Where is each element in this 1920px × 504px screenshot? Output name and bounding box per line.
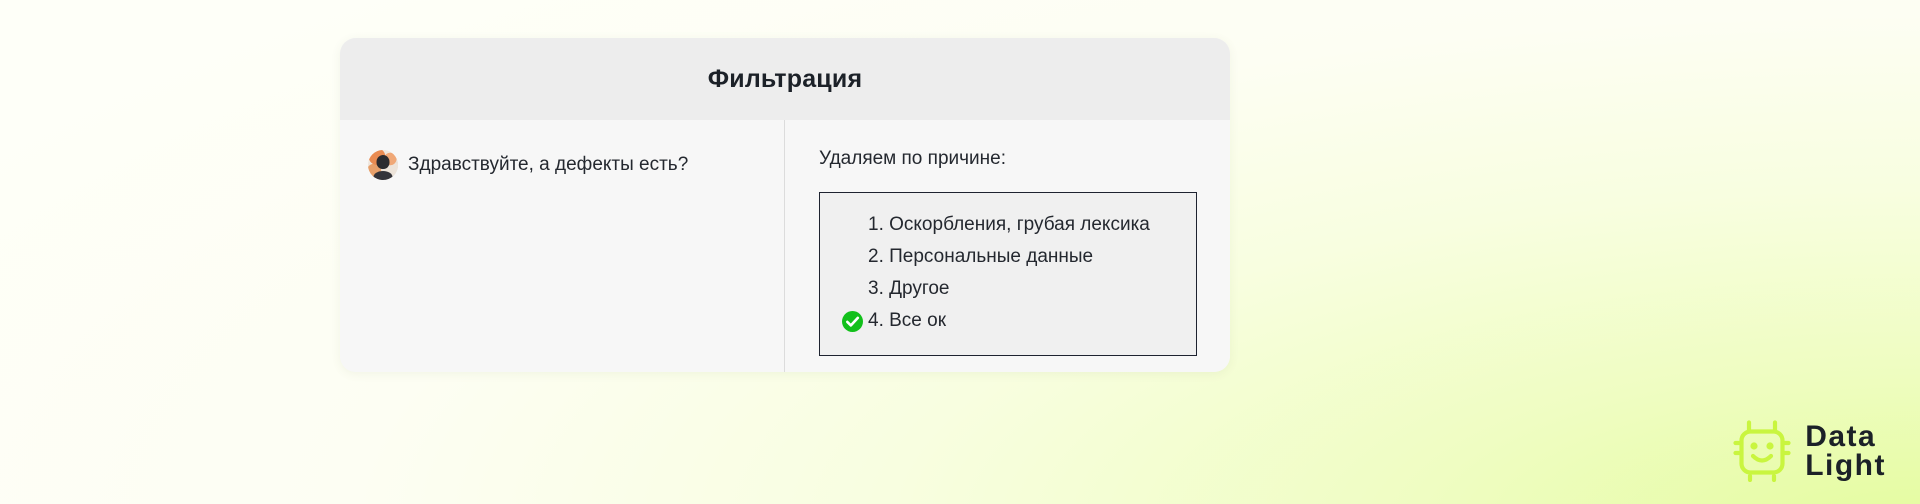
avatar-body-shape xyxy=(374,171,393,180)
reason-panel: Удаляем по причине: 1. Оскорбления, груб… xyxy=(785,120,1230,372)
datalight-logo: Data Light xyxy=(1733,420,1886,482)
list-item-selected[interactable]: 4. Все ок xyxy=(820,305,1196,337)
filtration-card: Фильтрация Здравствуйте, а дефекты есть?… xyxy=(340,38,1230,372)
chat-message: Здравствуйте, а дефекты есть? xyxy=(368,150,784,180)
robot-face-icon xyxy=(1733,420,1791,482)
page-background: Фильтрация Здравствуйте, а дефекты есть?… xyxy=(0,0,1920,504)
list-item-label: 2. Персональные данные xyxy=(868,246,1093,268)
page-title: Фильтрация xyxy=(708,65,863,94)
list-item[interactable]: 3. Другое xyxy=(820,273,1196,305)
list-item-label: 3. Другое xyxy=(868,278,950,300)
list-item-label: 4. Все ок xyxy=(868,310,946,332)
list-item[interactable]: 2. Персональные данные xyxy=(820,241,1196,273)
reason-list: 1. Оскорбления, грубая лексика 2. Персон… xyxy=(819,192,1197,356)
avatar xyxy=(368,150,398,180)
list-item-label: 1. Оскорбления, грубая лексика xyxy=(868,214,1150,236)
check-slot xyxy=(842,311,868,332)
message-panel: Здравствуйте, а дефекты есть? xyxy=(340,120,785,372)
reason-label: Удаляем по причине: xyxy=(819,148,1230,170)
logo-line-2: Light xyxy=(1805,451,1886,480)
logo-wordmark: Data Light xyxy=(1805,422,1886,481)
message-text: Здравствуйте, а дефекты есть? xyxy=(408,154,688,177)
logo-line-1: Data xyxy=(1805,422,1886,451)
check-circle-icon xyxy=(842,311,863,332)
avatar-head-shape xyxy=(377,155,390,169)
list-item[interactable]: 1. Оскорбления, грубая лексика xyxy=(820,209,1196,241)
card-body: Здравствуйте, а дефекты есть? Удаляем по… xyxy=(340,120,1230,372)
card-header: Фильтрация xyxy=(340,38,1230,120)
